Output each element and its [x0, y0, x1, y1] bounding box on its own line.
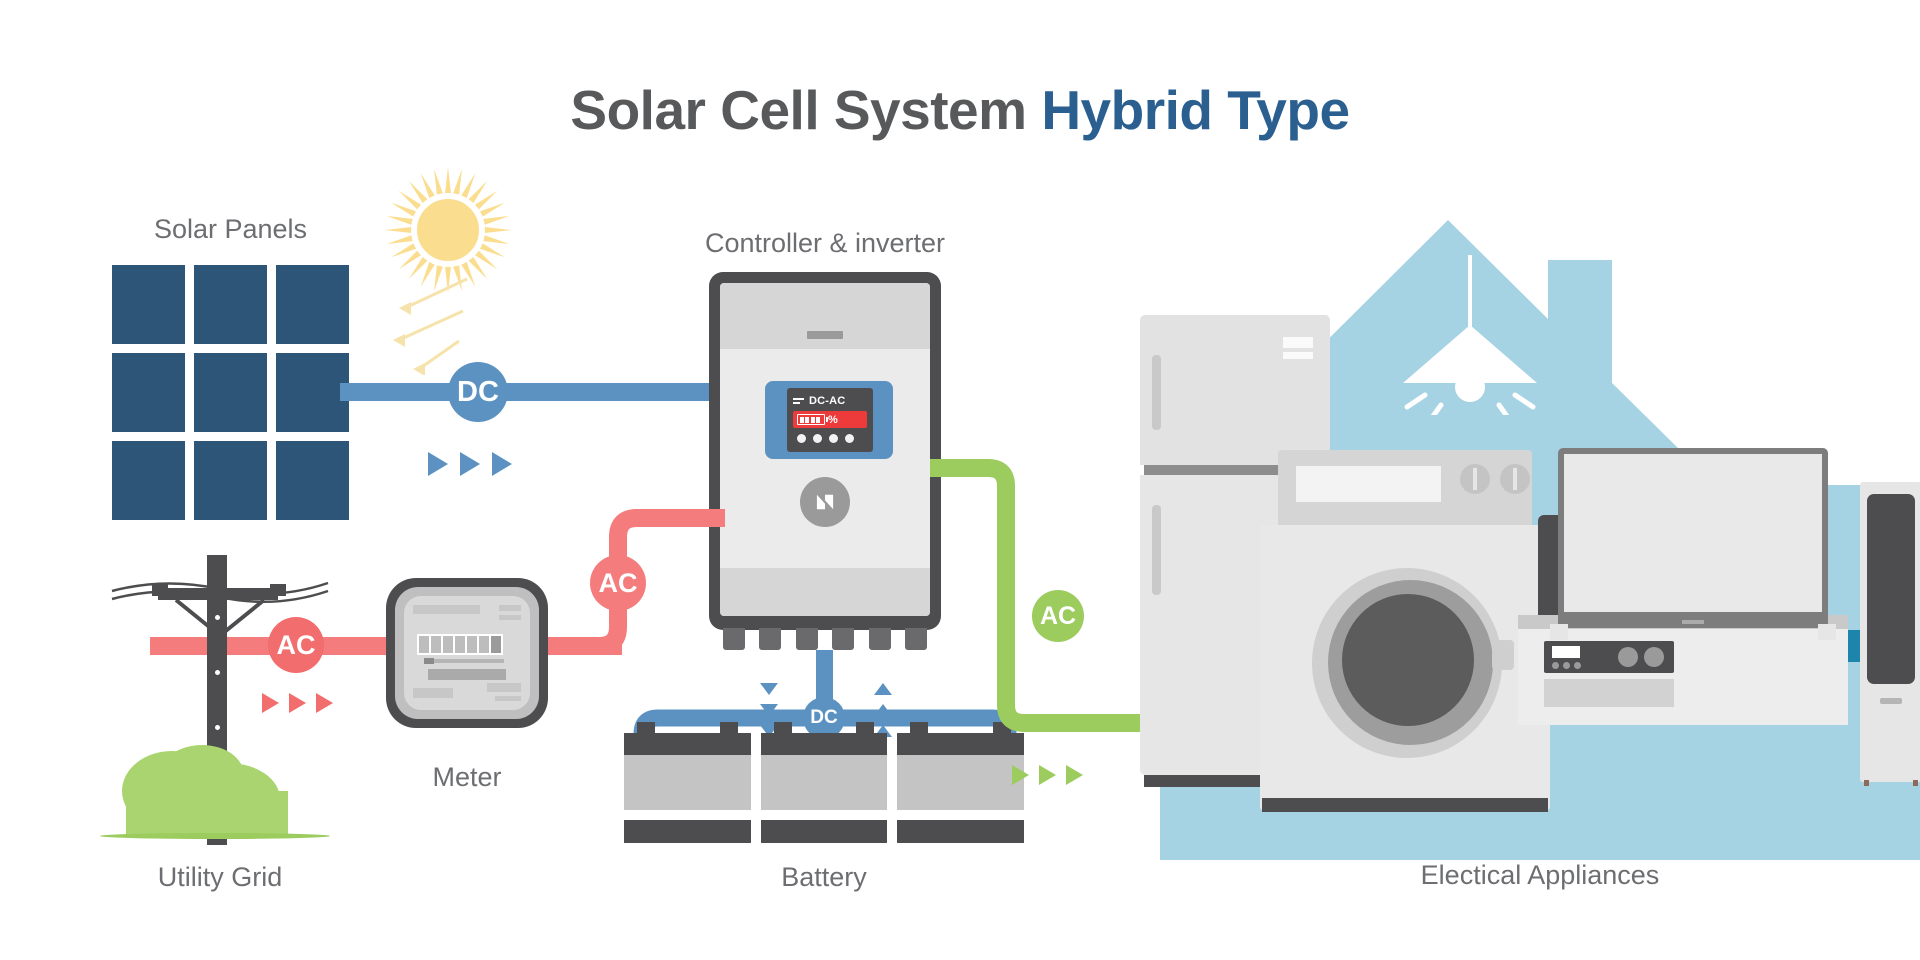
battery-body [624, 755, 751, 810]
meter-digit [467, 636, 477, 653]
controller-inverter-unit[interactable]: DC-AC % [709, 272, 941, 630]
indicator-dot [813, 434, 822, 443]
arrow-up-icon [874, 683, 892, 695]
wire-dc-solar [340, 383, 715, 401]
floor-speaker [1860, 482, 1920, 782]
solar-panel-cell [276, 441, 349, 520]
arrow-right-icon [1012, 765, 1029, 785]
solar-panel-cell [194, 265, 267, 344]
label-utility-grid: Utility Grid [110, 862, 330, 893]
floor-speaker-foot [1864, 780, 1869, 786]
inverter-bottom-connectors [723, 628, 927, 650]
solar-panel-cell [112, 353, 185, 432]
page-title: Solar Cell System Hybrid Type [0, 78, 1920, 142]
solar-panel-cell [276, 353, 349, 432]
meter-digit [419, 636, 429, 653]
washer-door-glass [1342, 594, 1474, 726]
inverter-vent-slot [807, 331, 843, 339]
battery-top [761, 733, 888, 755]
meter-label-block [499, 605, 521, 611]
connector-nub [869, 628, 891, 650]
washer-knob-mark [1473, 468, 1477, 490]
meter-label-block [499, 615, 521, 620]
connector-nub [723, 628, 745, 650]
meter-label-block [495, 696, 521, 701]
solar-panel-cell [112, 441, 185, 520]
arrows-dc-solar [428, 452, 512, 476]
connector-nub [796, 628, 818, 650]
arrows-ac-load [1012, 765, 1083, 785]
inverter-bottom-band [720, 568, 930, 616]
meter-digit-display [417, 634, 503, 655]
indicator-dot [797, 434, 806, 443]
washer-shadow-base [1262, 798, 1548, 812]
washing-machine [1260, 450, 1550, 830]
fridge-display-panel [1283, 337, 1313, 348]
battery-icon [797, 414, 825, 425]
badge-ac-inverter: AC [590, 555, 646, 611]
connector-nub [759, 628, 781, 650]
floor-speaker-port [1880, 698, 1902, 704]
utility-pole [110, 555, 330, 855]
arrow-right-icon [460, 452, 480, 476]
av-receiver-button[interactable] [1552, 662, 1559, 669]
arrow-up-icon [874, 704, 892, 716]
meter-digit [479, 636, 489, 653]
inverter-brand-logo-icon [800, 477, 850, 527]
connector-nub [832, 628, 854, 650]
battery-top [624, 733, 751, 755]
arrow-right-icon [428, 452, 448, 476]
connector-nub [905, 628, 927, 650]
arrow-right-icon [492, 452, 512, 476]
lcd-battery-row: % [793, 411, 867, 428]
indicator-dot [829, 434, 838, 443]
meter-scale-bar [429, 659, 504, 663]
inverter-lcd-screen[interactable]: DC-AC % [787, 388, 873, 452]
av-receiver-display [1552, 646, 1580, 658]
arrow-right-icon [1066, 765, 1083, 785]
logo-glyph-icon [807, 484, 843, 520]
solar-panel-array [112, 265, 349, 520]
title-main: Solar Cell System [570, 79, 1041, 141]
washer-knob-mark [1513, 468, 1517, 490]
meter-nameplate-bar [428, 669, 506, 680]
battery-base [761, 820, 888, 843]
pole-bolt [215, 725, 220, 730]
meter-label-block [487, 683, 521, 692]
battery-body [761, 755, 888, 810]
inverter-face: DC-AC % [720, 283, 930, 616]
electric-meter[interactable] [386, 578, 548, 728]
lcd-top-row: DC-AC [793, 394, 867, 408]
arrow-down-icon [760, 704, 778, 716]
label-electrical-appliances: Electical Appliances [1160, 860, 1920, 891]
meter-ring [395, 587, 539, 719]
floor-speaker-driver-panel [1867, 494, 1915, 684]
tv-screen [1564, 454, 1822, 612]
ground-line [100, 833, 330, 839]
label-solar-panels: Solar Panels [112, 214, 349, 245]
television [1558, 448, 1828, 628]
pole-bolt [215, 615, 220, 620]
sun-disc [411, 193, 485, 267]
label-controller-inverter: Controller & inverter [669, 228, 981, 259]
solar-panel-cell [112, 265, 185, 344]
lcd-mode-label: DC-AC [809, 395, 845, 407]
av-receiver-button[interactable] [1574, 662, 1581, 669]
meter-faceplate [404, 596, 530, 710]
washer-control-strip [1296, 466, 1441, 502]
inverter-display-bezel: DC-AC % [765, 381, 893, 459]
tv-brand-mark [1682, 620, 1704, 624]
console-shelf [1544, 679, 1674, 707]
av-receiver-button[interactable] [1563, 662, 1570, 669]
meter-label-block [413, 605, 480, 614]
fridge-fresh-handle [1152, 505, 1161, 595]
label-battery: Battery [624, 862, 1024, 893]
meter-digit [443, 636, 453, 653]
title-accent: Hybrid Type [1041, 79, 1349, 141]
indicator-dot [845, 434, 854, 443]
meter-digit [455, 636, 465, 653]
label-meter: Meter [386, 762, 548, 793]
arrows-battery-discharge [874, 683, 892, 737]
battery-base [897, 820, 1024, 843]
arrow-down-icon [760, 683, 778, 695]
washer-door-latch [1492, 640, 1514, 670]
meter-label-block [413, 688, 453, 698]
dc-symbol-icon [793, 398, 804, 404]
floor-speaker-foot [1913, 780, 1918, 786]
solar-panel-cell [194, 353, 267, 432]
ceiling-lamp-icon [1385, 255, 1555, 415]
badge-dc-solar: DC [448, 362, 508, 422]
pole-bolt [215, 670, 220, 675]
meter-digit [491, 636, 501, 653]
meter-digit [431, 636, 441, 653]
solar-panel-cell [194, 441, 267, 520]
sun-beams-icon [355, 275, 475, 375]
battery-unit [761, 733, 888, 843]
house-appliances-scene [1160, 220, 1920, 860]
battery-base [624, 820, 751, 843]
fridge-display-panel-2 [1283, 352, 1313, 359]
battery-unit [624, 733, 751, 843]
diagram-canvas: Solar Cell System Hybrid Type Solar Pane… [0, 0, 1920, 960]
bush-icon [110, 743, 310, 843]
av-receiver-dial[interactable] [1618, 647, 1638, 667]
solar-panel-cell [276, 265, 349, 344]
fridge-freezer-handle [1152, 355, 1161, 430]
tv-stand-leg [1818, 624, 1836, 640]
inverter-top-band [720, 283, 930, 349]
arrow-right-icon [1039, 765, 1056, 785]
lcd-percent-label: % [828, 414, 838, 426]
tv-stand-leg [1550, 624, 1568, 640]
lcd-indicator-dots [797, 434, 854, 443]
badge-ac-load: AC [1032, 590, 1084, 642]
av-receiver-dial[interactable] [1644, 647, 1664, 667]
